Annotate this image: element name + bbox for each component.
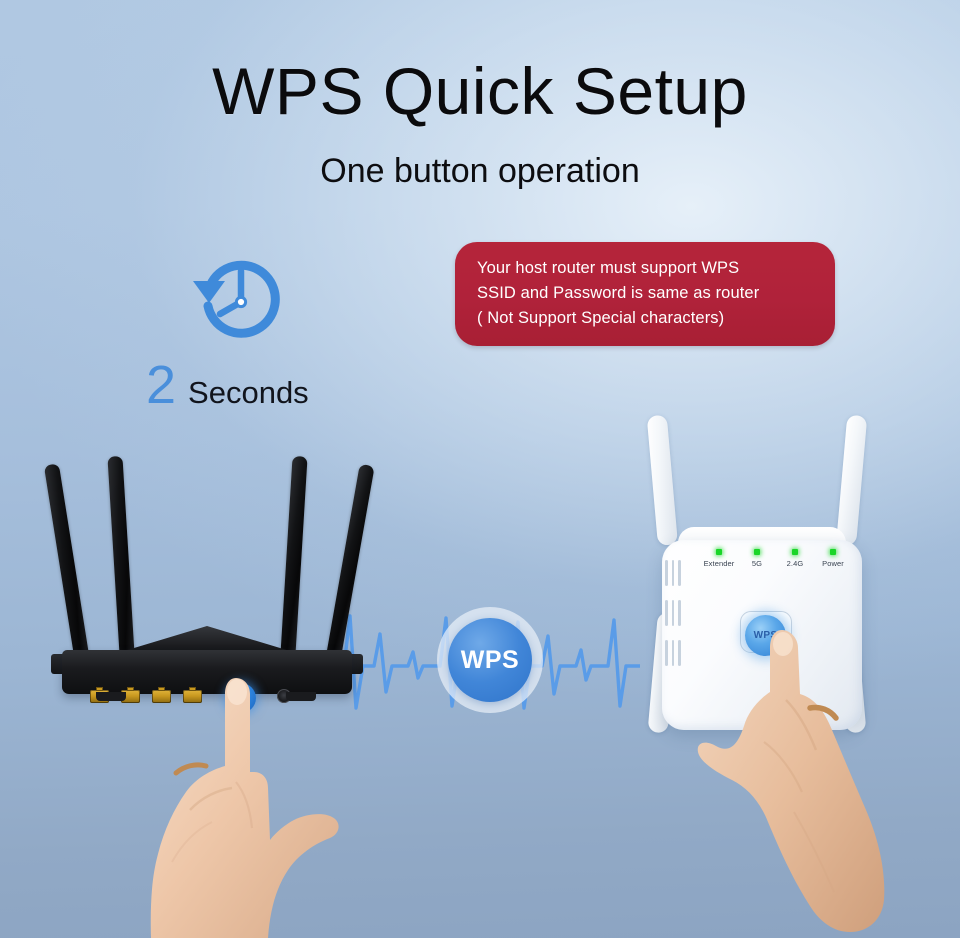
wps-badge-circle: WPS: [448, 618, 532, 702]
vent-slot: [665, 560, 668, 586]
vent-slot: [678, 640, 681, 666]
led-indicator: [754, 549, 760, 555]
led-label: 5G: [738, 559, 776, 568]
wps-badge-label: WPS: [461, 646, 519, 675]
vent-row: [665, 560, 691, 586]
vent-slot: [672, 640, 675, 666]
extender-led-row: Extender 5G 2.4G Power: [700, 549, 852, 568]
vent-row: [665, 600, 691, 626]
led-label: 2.4G: [776, 559, 814, 568]
vent-slot: [672, 560, 675, 586]
wps-quick-setup-poster: WPS Quick Setup One button operation You…: [0, 0, 960, 938]
vent-slot: [678, 560, 681, 586]
hand-pressing-extender-wps-button: [686, 630, 958, 938]
devices-scene: WPS: [0, 0, 960, 938]
hand-pressing-router-wps-button: [118, 662, 418, 938]
led-label: Power: [814, 559, 852, 568]
extender-antenna-top-left: [647, 415, 678, 546]
vent-slot: [665, 600, 668, 626]
led-indicator: [716, 549, 722, 555]
led-2-4g: 2.4G: [776, 549, 814, 568]
led-label: Extender: [700, 559, 738, 568]
led-power: Power: [814, 549, 852, 568]
vent-slot: [672, 600, 675, 626]
vent-slot: [678, 600, 681, 626]
extender-antenna-top-right: [836, 415, 867, 546]
led-5g: 5G: [738, 549, 776, 568]
led-indicator: [792, 549, 798, 555]
led-indicator: [830, 549, 836, 555]
wps-signal-badge: WPS: [437, 607, 543, 713]
vent-slot: [665, 640, 668, 666]
led-extender: Extender: [700, 549, 738, 568]
